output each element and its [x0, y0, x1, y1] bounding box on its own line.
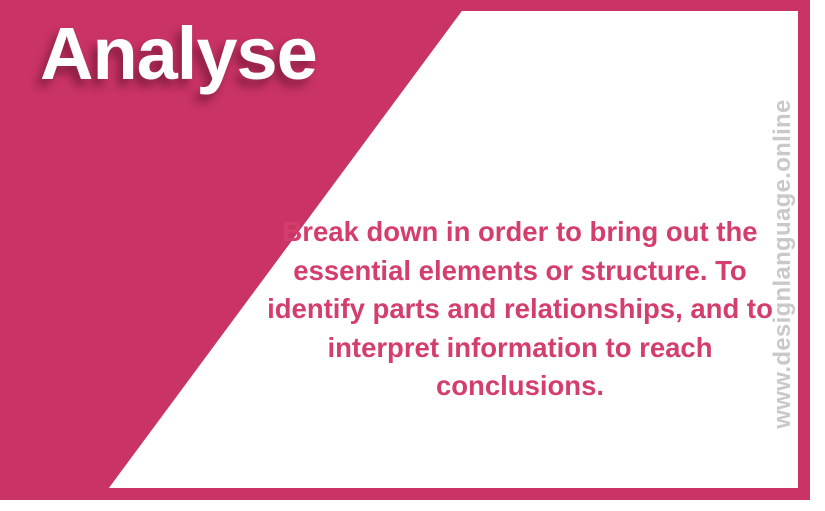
frame-bottom-bar [0, 488, 810, 500]
definition-card: Analyse Break down in order to bring out… [0, 0, 825, 511]
frame-right-bar [798, 0, 810, 500]
card-title: Analyse [40, 17, 317, 91]
website-watermark: www.designlanguage.online [771, 54, 795, 474]
card-definition-text: Break down in order to bring out the ess… [258, 213, 782, 406]
frame-top-bar [0, 0, 810, 11]
